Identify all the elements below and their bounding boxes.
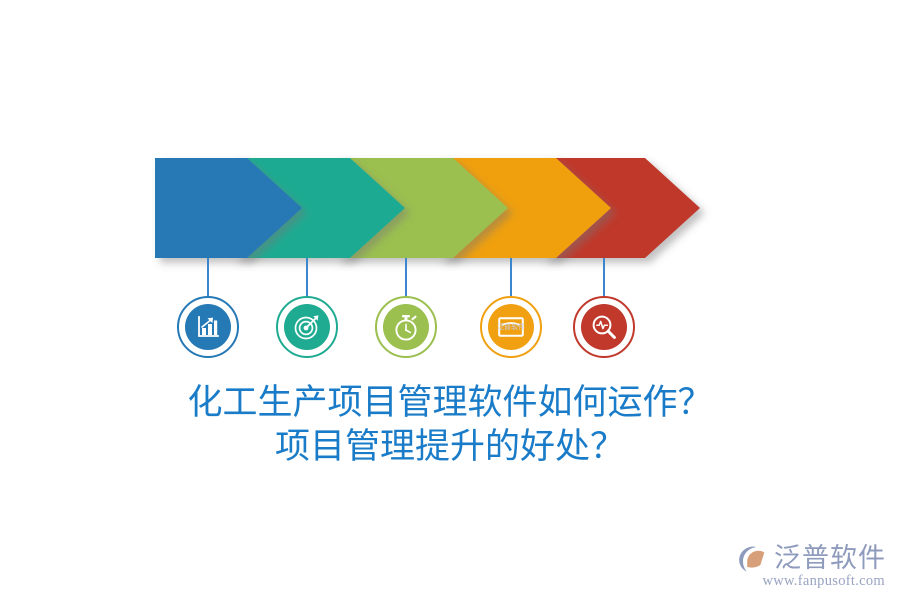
connector-line-3 xyxy=(405,258,407,298)
brand-watermark: 泛普软件 www.fanpusoft.com xyxy=(736,543,886,590)
connector-line-2 xyxy=(306,258,308,298)
process-icon-node-4[interactable]: 泛普软件 xyxy=(480,296,542,358)
fanpu-logo-icon xyxy=(736,543,770,575)
target-dart-icon xyxy=(293,313,321,341)
process-icon-node-5[interactable] xyxy=(573,296,635,358)
connector-line-4 xyxy=(510,258,512,298)
connector-line-5 xyxy=(603,258,605,298)
process-icon-node-2[interactable] xyxy=(276,296,338,358)
poster-canvas: 泛普软件 化工生产项目管理软件如何运作？ 项目管理提升的好处？ xyxy=(0,0,900,600)
presentation-board-icon xyxy=(497,315,525,339)
icon-core-5 xyxy=(581,304,627,350)
page-title: 化工生产项目管理软件如何运作？ 项目管理提升的好处？ xyxy=(0,381,900,469)
connector-line-1 xyxy=(207,258,209,298)
brand-row: 泛普软件 xyxy=(736,543,886,575)
icon-core-4: 泛普软件 xyxy=(488,304,534,350)
stopwatch-icon xyxy=(393,314,419,341)
brand-url: www.fanpusoft.com xyxy=(762,573,885,590)
icon-core-1 xyxy=(185,304,231,350)
brand-name: 泛普软件 xyxy=(774,544,886,574)
page-title-line-1: 化工生产项目管理软件如何运作？ xyxy=(0,381,900,425)
process-icon-node-3[interactable] xyxy=(375,296,437,358)
bar-chart-growth-icon xyxy=(195,314,221,340)
chevron-svg xyxy=(0,0,900,300)
magnifier-pulse-icon xyxy=(591,314,617,340)
page-title-line-2: 项目管理提升的好处？ xyxy=(0,425,900,469)
icon-core-3 xyxy=(383,304,429,350)
process-icon-node-1[interactable] xyxy=(177,296,239,358)
process-chevron-band xyxy=(0,0,900,300)
icon-core-2 xyxy=(284,304,330,350)
